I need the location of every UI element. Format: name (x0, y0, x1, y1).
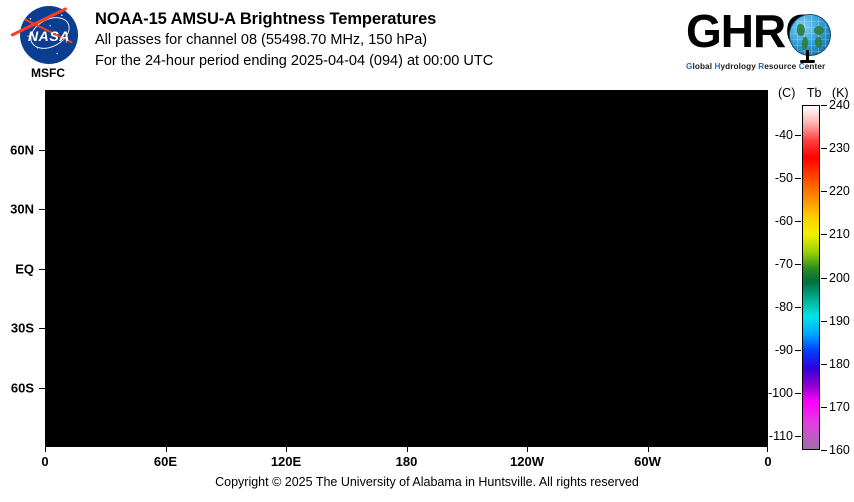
x-axis-tick (407, 447, 408, 452)
colorbar-tick-kelvin (821, 191, 827, 192)
colorbar-label-celsius: -60 (775, 214, 793, 228)
colorbar-label-kelvin: 170 (829, 400, 850, 414)
x-axis-tick (286, 447, 287, 452)
y-axis-label: 60S (11, 380, 34, 395)
x-axis-tick (166, 447, 167, 452)
y-axis-label: 30S (11, 321, 34, 336)
colorbar-label-kelvin: 200 (829, 271, 850, 285)
copyright-notice: Copyright © 2025 The University of Alaba… (0, 475, 854, 489)
globe-landmass (797, 24, 805, 36)
colorbar-tick-kelvin (821, 321, 827, 322)
colorbar-label-kelvin: 230 (829, 141, 850, 155)
x-axis-label: 60E (154, 454, 177, 469)
colorbar-label-celsius: -70 (775, 257, 793, 271)
title-block: NOAA-15 AMSU-A Brightness Temperatures A… (95, 8, 655, 72)
x-axis-tick (767, 447, 768, 452)
colorbar-tick-celsius (795, 393, 801, 394)
y-axis-label: 60N (10, 142, 34, 157)
x-axis-label: 0 (764, 454, 771, 469)
colorbar-label-celsius: -50 (775, 171, 793, 185)
x-axis-tick (45, 447, 46, 452)
y-axis-tick (39, 209, 45, 210)
colorbar-gradient-fill (803, 106, 819, 449)
colorbar-tick-celsius (795, 436, 801, 437)
y-axis-label: EQ (15, 261, 34, 276)
plot-border (45, 90, 768, 447)
subtitle-channel: All passes for channel 08 (55498.70 MHz,… (95, 30, 655, 51)
globe-landmass (814, 26, 824, 35)
ghrc-logo: GHRC Global Hydrology Resource Center (686, 6, 846, 80)
colorbar-variable: Tb (807, 86, 822, 100)
colorbar-tick-celsius (795, 264, 801, 265)
x-axis-label: 0 (41, 454, 48, 469)
colorbar-unit-celsius: (C) (778, 86, 795, 100)
colorbar-tick-kelvin (821, 450, 827, 451)
page-title: NOAA-15 AMSU-A Brightness Temperatures (95, 8, 655, 30)
colorbar-tick-celsius (795, 135, 801, 136)
colorbar-tick-kelvin (821, 234, 827, 235)
nasa-wordmark: NASA (20, 28, 78, 44)
colorbar-label-celsius: -110 (769, 429, 793, 443)
colorbar-tick-kelvin (821, 278, 827, 279)
colorbar-label-kelvin: 160 (829, 443, 850, 457)
colorbar-label-celsius: -40 (775, 128, 793, 142)
colorbar-tick-celsius (795, 307, 801, 308)
colorbar-label-kelvin: 220 (829, 184, 850, 198)
colorbar-label-kelvin: 210 (829, 227, 850, 241)
colorbar-tick-kelvin (821, 364, 827, 365)
colorbar-label-celsius: -90 (775, 343, 793, 357)
ghrc-tagline: Global Hydrology Resource Center (686, 62, 846, 71)
x-axis-label: 60W (634, 454, 661, 469)
y-axis-tick (39, 388, 45, 389)
colorbar: (C) Tb (K) 240230220210200190180170160-4… (780, 86, 854, 456)
x-axis-label: 120W (510, 454, 544, 469)
globe-landmass (815, 37, 822, 48)
colorbar-label-kelvin: 190 (829, 314, 850, 328)
colorbar-label-celsius: -100 (768, 386, 793, 400)
map-plot: 060E120E180120W60W0 60N30NEQ30S60S (45, 90, 768, 447)
colorbar-label-kelvin: 180 (829, 357, 850, 371)
nasa-logo: NASA MSFC (12, 4, 84, 84)
page-header: NASA MSFC NOAA-15 AMSU-A Brightness Temp… (0, 0, 854, 88)
y-axis-label: 30N (10, 202, 34, 217)
colorbar-tick-celsius (795, 178, 801, 179)
colorbar-tick-kelvin (821, 148, 827, 149)
x-axis-tick (527, 447, 528, 452)
subtitle-period: For the 24-hour period ending 2025-04-04… (95, 51, 655, 72)
colorbar-tick-celsius (795, 221, 801, 222)
nasa-center-label: MSFC (12, 66, 84, 80)
colorbar-tick-kelvin (821, 105, 827, 106)
x-axis-tick (648, 447, 649, 452)
y-axis-tick (39, 269, 45, 270)
colorbar-tick-kelvin (821, 407, 827, 408)
colorbar-label-kelvin: 240 (829, 98, 850, 112)
colorbar-tick-celsius (795, 350, 801, 351)
colorbar-gradient (802, 105, 820, 450)
colorbar-label-celsius: -80 (775, 300, 793, 314)
globe-gridlines (790, 15, 830, 55)
x-axis-label: 120E (271, 454, 301, 469)
y-axis-tick (39, 150, 45, 151)
y-axis-tick (39, 328, 45, 329)
x-axis-label: 180 (396, 454, 418, 469)
globe-icon (789, 14, 831, 56)
